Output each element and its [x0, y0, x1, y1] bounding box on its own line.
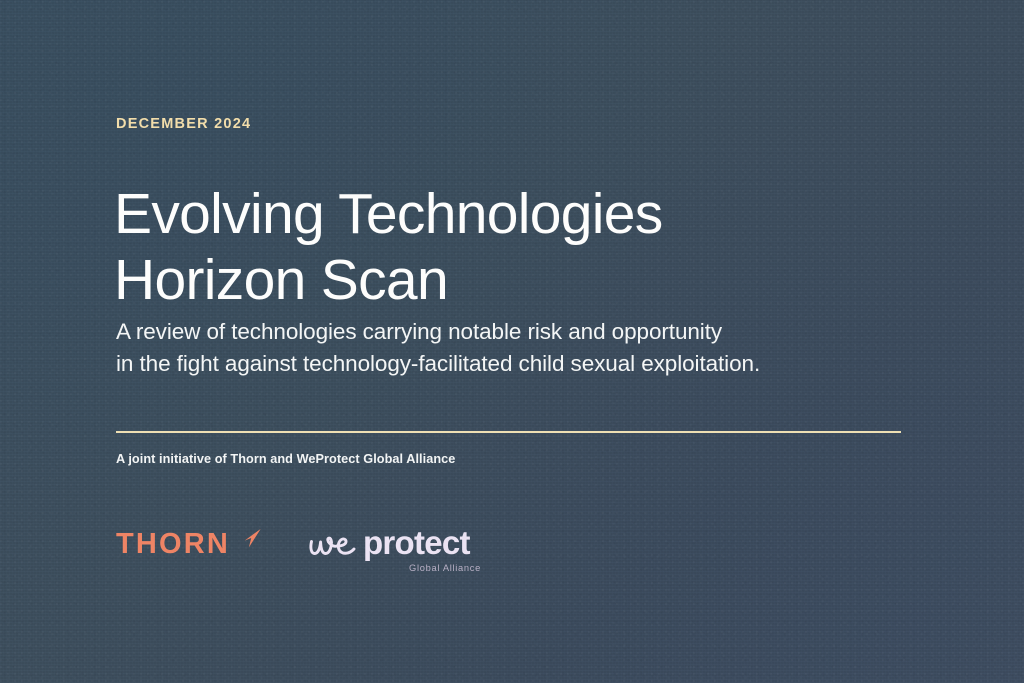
thorn-logo[interactable]: THORN [116, 530, 265, 559]
page-title-line-2: Horizon Scan [114, 247, 663, 313]
page-title: Evolving Technologies Horizon Scan [114, 181, 663, 313]
weprotect-logo[interactable]: protect Global Alliance [308, 524, 484, 573]
divider-rule [116, 431, 901, 433]
report-cover: DECEMBER 2024 Evolving Technologies Hori… [0, 0, 1024, 683]
weprotect-wordmark: protect [363, 526, 470, 559]
page-title-line-1: Evolving Technologies [114, 181, 663, 247]
arrow-up-right-icon [239, 526, 265, 552]
joint-initiative-credit: A joint initiative of Thorn and WeProtec… [116, 452, 455, 466]
page-subtitle-line-1: A review of technologies carrying notabl… [116, 316, 760, 348]
weprotect-tagline: Global Alliance [308, 563, 484, 573]
thorn-wordmark: THORN [116, 530, 230, 559]
weprotect-script-we [308, 528, 362, 560]
page-subtitle-line-2: in the fight against technology-facilita… [116, 348, 760, 380]
publication-date: DECEMBER 2024 [116, 116, 251, 132]
cover-content: DECEMBER 2024 Evolving Technologies Hori… [0, 0, 1024, 683]
page-subtitle: A review of technologies carrying notabl… [116, 316, 760, 380]
